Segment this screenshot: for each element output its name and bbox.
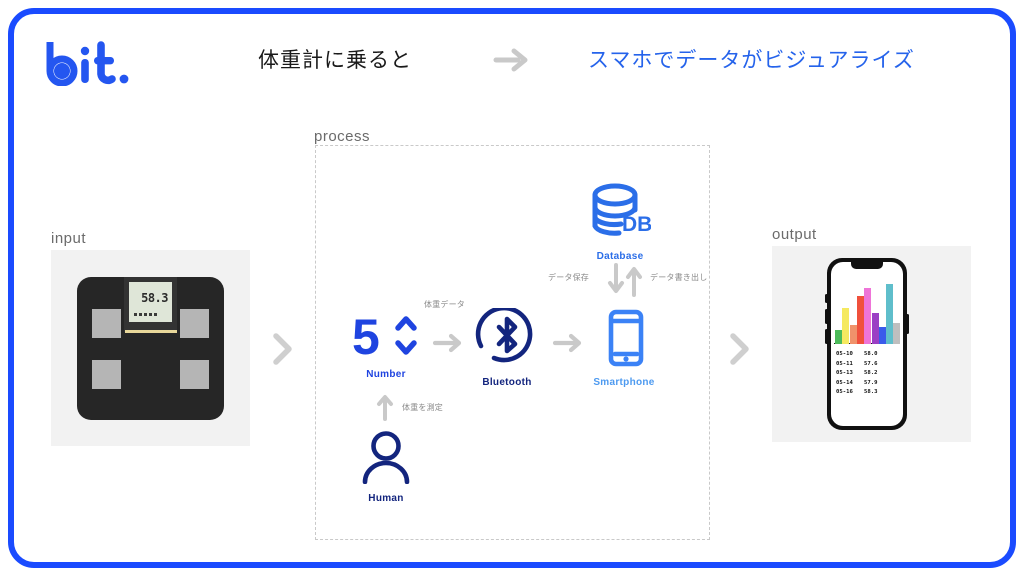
section-label-output: output bbox=[772, 226, 817, 243]
table-row: 05-1457.9 bbox=[836, 379, 898, 389]
table-row: 05-1658.3 bbox=[836, 388, 898, 398]
bit-logo bbox=[44, 38, 134, 86]
process-node-label: Smartphone bbox=[591, 377, 657, 388]
bluetooth-icon bbox=[474, 308, 540, 368]
table-cell-weight: 58.0 bbox=[864, 350, 888, 360]
table-cell-weight: 58.3 bbox=[864, 388, 888, 398]
process-node-human: Human bbox=[355, 430, 417, 504]
phone-notch bbox=[851, 262, 883, 269]
output-panel: 05-1058.005-1157.605-1358.205-1457.905-1… bbox=[772, 246, 971, 442]
weight-bar-chart bbox=[831, 274, 903, 344]
edge-label-weight-data: 体重データ bbox=[424, 299, 465, 310]
arrow-down-icon bbox=[610, 265, 622, 291]
process-node-bluetooth: Bluetooth bbox=[474, 308, 540, 388]
process-node-label: Bluetooth bbox=[474, 377, 540, 388]
table-cell-date: 05-11 bbox=[836, 360, 864, 370]
header-right-text: スマホでデータがビジュアライズ bbox=[588, 44, 915, 74]
process-node-number: 5 Number bbox=[352, 312, 420, 380]
table-cell-date: 05-13 bbox=[836, 369, 864, 379]
table-cell-weight: 57.6 bbox=[864, 360, 888, 370]
scale-electrode-pad bbox=[180, 360, 209, 389]
scale-electrode-pad bbox=[92, 309, 121, 338]
phone-button-power bbox=[906, 314, 909, 334]
phone-button-mute bbox=[825, 294, 828, 303]
table-cell-date: 05-16 bbox=[836, 388, 864, 398]
header-left-text: 体重計に乗ると bbox=[258, 44, 412, 74]
database-icon: DB bbox=[589, 182, 651, 242]
phone-button-volume-up bbox=[825, 309, 828, 324]
process-node-label: Number bbox=[352, 369, 420, 380]
arrow-right-icon bbox=[432, 333, 466, 353]
arrow-up-icon bbox=[375, 393, 395, 421]
scale-accent-stripe bbox=[125, 330, 177, 333]
edge-label-measure-weight: 体重を測定 bbox=[402, 402, 443, 413]
arrow-up-icon bbox=[628, 269, 640, 295]
process-node-label: Human bbox=[355, 493, 417, 504]
database-sync-arrows bbox=[607, 262, 645, 298]
process-node-database: DB Database bbox=[589, 182, 651, 262]
smartphone-mockup: 05-1058.005-1157.605-1358.205-1457.905-1… bbox=[827, 258, 907, 430]
phone-button-volume-down bbox=[825, 329, 828, 344]
table-cell-weight: 58.2 bbox=[864, 369, 888, 379]
edge-label-data-export: データ書き出し bbox=[650, 272, 707, 283]
chevron-right-icon bbox=[729, 332, 751, 366]
table-row: 05-1058.0 bbox=[836, 350, 898, 360]
scale-electrode-pad bbox=[92, 360, 121, 389]
svg-text:5: 5 bbox=[352, 312, 380, 360]
svg-text:DB: DB bbox=[622, 213, 651, 236]
process-node-label: Database bbox=[589, 251, 651, 262]
chevron-right-icon bbox=[272, 332, 294, 366]
section-label-process: process bbox=[314, 128, 370, 145]
chart-bar bbox=[850, 325, 857, 344]
table-row: 05-1358.2 bbox=[836, 369, 898, 379]
number-stepper-icon: 5 bbox=[352, 312, 420, 360]
chart-bar bbox=[842, 308, 849, 344]
chart-bar bbox=[835, 330, 842, 344]
scale-lcd-value: 58.3 bbox=[141, 291, 168, 305]
arrow-right-icon bbox=[552, 333, 586, 353]
chart-bar bbox=[886, 284, 893, 344]
chart-bar bbox=[872, 313, 879, 344]
scale-lcd-dashes bbox=[134, 313, 158, 316]
table-cell-date: 05-10 bbox=[836, 350, 864, 360]
edge-label-data-save: データ保存 bbox=[548, 272, 589, 283]
chart-bar bbox=[879, 327, 886, 344]
process-node-smartphone: Smartphone bbox=[591, 308, 657, 388]
weight-scale-icon: 58.3 bbox=[77, 277, 224, 420]
input-panel: 58.3 bbox=[51, 250, 250, 446]
chart-bar bbox=[864, 288, 871, 344]
smartphone-icon bbox=[591, 308, 657, 368]
slide-canvas: 体重計に乗ると スマホでデータがビジュアライズ input process ou… bbox=[0, 0, 1024, 576]
arrow-right-icon bbox=[492, 44, 534, 76]
scale-lcd-screen: 58.3 bbox=[129, 282, 172, 322]
table-cell-weight: 57.9 bbox=[864, 379, 888, 389]
phone-screen: 05-1058.005-1157.605-1358.205-1457.905-1… bbox=[831, 262, 903, 426]
weight-data-table: 05-1058.005-1157.605-1358.205-1457.905-1… bbox=[836, 350, 898, 398]
section-label-input: input bbox=[51, 230, 86, 247]
table-row: 05-1157.6 bbox=[836, 360, 898, 370]
chart-bar bbox=[857, 296, 864, 344]
table-cell-date: 05-14 bbox=[836, 379, 864, 389]
scale-electrode-pad bbox=[180, 309, 209, 338]
chart-bar bbox=[893, 323, 900, 344]
person-icon bbox=[355, 430, 417, 484]
